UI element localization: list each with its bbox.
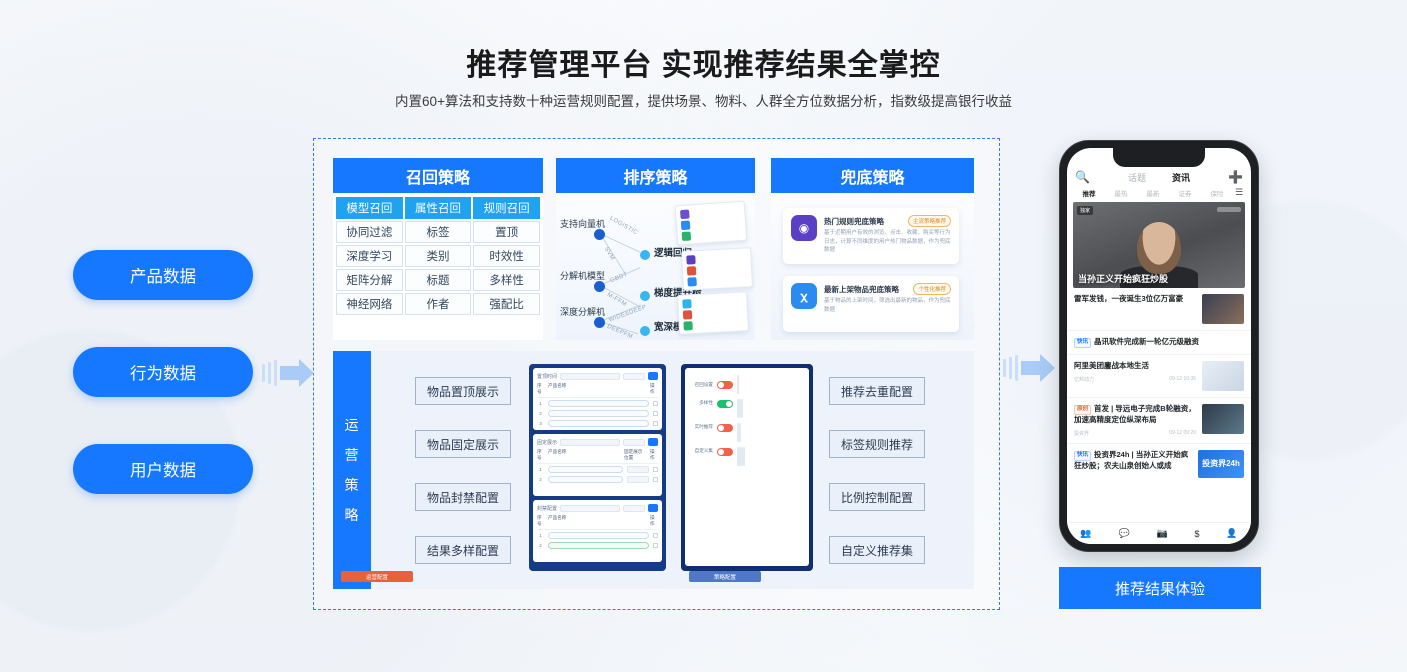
infographic-canvas: 推荐管理平台 实现推荐结果全掌控 内置60+算法和支持数十种运营规则配置，提供场…	[0, 0, 1407, 672]
column-header: 产品名称	[548, 383, 646, 395]
edge-label: DEEPFM	[606, 324, 633, 341]
ops-button-dedup[interactable]: 推荐去重配置	[829, 377, 925, 405]
news-meta: 亿邦动力 09-12 10:35	[1074, 376, 1196, 383]
column-header: 序号	[537, 449, 544, 461]
filter-label: 封禁配置	[537, 505, 557, 512]
edge-label: LOGISTIC	[609, 216, 639, 237]
filter-row[interactable]: 置顶时间	[537, 372, 658, 380]
graph-node-dot	[594, 229, 605, 240]
column-header: 操作	[650, 383, 658, 395]
product-select[interactable]	[623, 373, 645, 380]
list-item[interactable]: 雷军发钱，一夜诞生3位亿万富豪	[1067, 288, 1251, 331]
pill-label: 产品数据	[130, 263, 196, 287]
recall-cell[interactable]: 标题	[405, 269, 472, 291]
fallback-card-title: 热门规则兜底策略	[824, 216, 884, 227]
card-icon	[681, 220, 691, 230]
list-item[interactable]: 快讯晶讯软件完成新一轮亿元级融资	[1067, 331, 1251, 355]
recall-cell[interactable]: 矩阵分解	[336, 269, 403, 291]
news-headline-text: 投资界24h | 当孙正义开始疯狂炒股；农夫山泉创始人或成	[1074, 450, 1188, 470]
table-header: 序号 产品名称 操作	[537, 383, 658, 398]
row-number: 2	[537, 411, 544, 416]
arrow-head-icon	[1021, 361, 1041, 375]
row-checkbox[interactable]	[653, 411, 658, 416]
column-header: 序号	[537, 383, 544, 395]
arrow-trail-line	[1015, 355, 1018, 381]
pill-label: 行为数据	[130, 360, 196, 384]
table-row[interactable]: 2	[537, 542, 658, 549]
result-preview-card	[681, 247, 753, 291]
table-panel: 置顶时间 序号 产品名称 操作 1 2 3	[533, 368, 662, 430]
date-range-input[interactable]	[560, 505, 620, 512]
toggle-switch[interactable]	[717, 424, 733, 432]
source-tag: 快讯	[1074, 338, 1091, 348]
panel-fallback-title: 兜底策略	[771, 158, 974, 193]
recall-cell[interactable]: 强配比	[473, 293, 540, 315]
panel-ranking-strategy: 排序策略 支持向量机 分解机模型 深度分解机 逻辑回归 梯度提升树 宽深模型	[556, 158, 755, 340]
news-headline: 快讯投资界24h | 当孙正义开始疯狂炒股；农夫山泉创始人或成	[1074, 450, 1192, 472]
filter-row[interactable]: 封禁配置	[537, 504, 658, 512]
row-number: 2	[537, 543, 544, 548]
tab-newest[interactable]: 最新	[1137, 188, 1169, 198]
rail-char: 策	[345, 475, 360, 495]
news-time: 09-12 10:35	[1169, 376, 1196, 383]
filter-label: 固定展示	[537, 439, 557, 446]
toggle-label: 实时推荐	[691, 424, 713, 430]
input-pill-product-data[interactable]: 产品数据	[73, 250, 253, 300]
recall-cell[interactable]: 深度学习	[336, 245, 403, 267]
fallback-card-desc: 基于近期用户有效的浏览、点击、收藏、购买等行为日志，计算不同维度的用户热门物品数…	[824, 229, 951, 255]
operation-strategy-rail: 运 营 策 略	[333, 351, 371, 589]
recall-col-header[interactable]: 模型召回	[336, 197, 403, 219]
date-range-input[interactable]	[560, 373, 620, 380]
row-checkbox[interactable]	[653, 477, 658, 482]
recall-cell[interactable]: 时效性	[473, 245, 540, 267]
toggle-label: 召回设置	[691, 382, 713, 388]
column-header: 序号	[537, 515, 544, 527]
edge-label: GBDT	[610, 272, 629, 284]
ad-banner[interactable]: 投资界24h	[1198, 450, 1244, 478]
tab-news[interactable]: 资讯	[1172, 171, 1190, 184]
pill-label: 用户数据	[130, 457, 196, 481]
column-header: 产品名称	[548, 515, 646, 527]
operation-strategy-area: 运 营 策 略 物品置顶展示 物品固定展示 物品封禁配置 结果多样配置 推荐去重…	[333, 351, 974, 589]
table-row[interactable]: 1	[537, 466, 658, 473]
recall-strategy-grid: 模型召回 属性召回 规则召回 协同过滤 标签 置顶 深度学习 类别 时效性 矩阵…	[333, 193, 543, 319]
app-header: 🔍 话题 资讯 ➕	[1067, 167, 1251, 185]
input-pill-behavior-data[interactable]: 行为数据	[73, 347, 253, 397]
arrow-trail-line	[1003, 359, 1006, 377]
recall-cell[interactable]: 类别	[405, 245, 472, 267]
recall-cell[interactable]: 标签	[405, 221, 472, 243]
news-thumbnail	[1202, 404, 1244, 434]
toggle-switch[interactable]	[717, 400, 733, 408]
toggle-row[interactable]: 实时推荐	[691, 424, 803, 442]
news-headline: 原创首发 | 导远电子完成B轮融资，加速高精度定位纵深布局	[1074, 404, 1196, 426]
arrow-trail-line	[1009, 357, 1012, 379]
tab-insurance[interactable]: 保险	[1201, 188, 1233, 198]
table-row[interactable]: 1	[537, 532, 658, 539]
table-panel: 封禁配置 序号 产品名称 操作 1 2	[533, 500, 662, 562]
recall-cell[interactable]: 神经网络	[336, 293, 403, 315]
result-preview-card	[675, 201, 748, 246]
flow-arrow-right	[1003, 355, 1041, 381]
arrow-trail-line	[268, 362, 271, 384]
news-source: 投资界	[1074, 430, 1089, 437]
status-badge: 个性化推荐	[913, 283, 951, 295]
status-badge: 主流策略推荐	[908, 215, 951, 227]
card-icon	[680, 210, 690, 220]
camera-icon[interactable]: 📷	[1156, 528, 1167, 539]
page-title: 推荐管理平台 实现推荐结果全掌控	[0, 40, 1407, 84]
tab-recommend[interactable]: 推荐	[1073, 188, 1105, 198]
filter-label: 置顶时间	[537, 373, 557, 380]
flow-arrow-left	[262, 360, 300, 386]
toggle-row[interactable]: 自定义集	[691, 448, 803, 466]
filter-row[interactable]: 固定展示	[537, 438, 658, 446]
product-select[interactable]	[623, 505, 645, 512]
table-row[interactable]: 2	[537, 476, 658, 483]
news-headline: 阿里美团鏖战本地生活	[1074, 361, 1196, 372]
arrow-trail-line	[274, 360, 277, 386]
ops-button-tag-rule[interactable]: 标签规则推荐	[829, 430, 925, 458]
panel-recall-title: 召回策略	[333, 158, 543, 193]
news-thumbnail	[1202, 361, 1244, 391]
rail-char: 略	[345, 505, 360, 525]
page-subtitle: 内置60+算法和支持数十种运营规则配置，提供场景、物料、人群全方位数据分析，指数…	[0, 90, 1407, 110]
result-preview-card	[677, 291, 749, 335]
recall-cell[interactable]: 置顶	[473, 221, 540, 243]
search-icon[interactable]: 🔍	[1075, 170, 1090, 184]
table-row[interactable]: 1	[537, 400, 658, 407]
recall-col-header[interactable]: 规则召回	[473, 197, 540, 219]
row-number: 1	[537, 401, 544, 406]
hero-title: 当孙正义开始疯狂炒股	[1078, 272, 1168, 285]
search-icon[interactable]	[648, 438, 658, 446]
column-header: 产品名称	[548, 449, 620, 461]
row-checkbox[interactable]	[653, 467, 658, 472]
search-icon[interactable]	[648, 504, 658, 512]
source-tag: 原创	[1074, 405, 1091, 415]
panel-fallback-strategy: 兜底策略 ◉ 热门规则兜底策略 主流策略推荐 基于近期用户有效的浏览、点击、收藏…	[771, 158, 974, 340]
fallback-card-new-arrivals[interactable]: 𝛘 最新上架物品兜底策略 个性化推荐 基于物品的上架时间，筛选出最新的物品，作为…	[783, 276, 959, 332]
news-thumbnail	[1202, 294, 1244, 324]
list-item[interactable]: 阿里美团鏖战本地生活 亿邦动力 09-12 10:35	[1067, 355, 1251, 398]
row-number: 1	[537, 467, 544, 472]
toggle-switch[interactable]	[717, 448, 733, 456]
plus-icon[interactable]: ➕	[1228, 170, 1243, 184]
compass-icon: ◉	[791, 215, 817, 241]
rail-char: 运	[345, 415, 360, 435]
stepper[interactable]	[627, 476, 649, 483]
graph-node-dot	[640, 250, 650, 260]
settings-panel: 召回设置 多样性 实时推荐 自定义集	[685, 368, 809, 566]
arrow-trail-line	[262, 364, 265, 382]
row-number: 2	[537, 477, 544, 482]
news-headline-text: 首发 | 导远电子完成B轮融资，加速高精度定位纵深布局	[1074, 404, 1196, 424]
panel-recall-strategy: 召回策略 模型召回 属性召回 规则召回 协同过滤 标签 置顶 深度学习 类别 时…	[333, 158, 543, 340]
toggle-switch[interactable]	[717, 381, 733, 389]
toggle-label: 自定义集	[691, 448, 713, 454]
ranking-diagram: 支持向量机 分解机模型 深度分解机 逻辑回归 梯度提升树 宽深模型 LOGIST…	[556, 193, 755, 340]
ops-button-result-diversity[interactable]: 结果多样配置	[415, 536, 511, 564]
chat-icon[interactable]: 💬	[1118, 528, 1129, 539]
recall-cell[interactable]: 协同过滤	[336, 221, 403, 243]
row-checkbox[interactable]	[653, 543, 658, 548]
input-pill-user-data[interactable]: 用户数据	[73, 444, 253, 494]
ops-button-ratio-control[interactable]: 比例控制配置	[829, 483, 925, 511]
list-item[interactable]: 原创首发 | 导远电子完成B轮融资，加速高精度定位纵深布局 投资界 09-12 …	[1067, 398, 1251, 444]
admin-screenshot-tables: 置顶时间 序号 产品名称 操作 1 2 3 固定展示	[529, 364, 666, 571]
row-checkbox[interactable]	[653, 401, 658, 406]
graph-node-dot	[594, 281, 605, 292]
ops-button-custom-set[interactable]: 自定义推荐集	[829, 536, 925, 564]
toggle-label: 多样性	[691, 400, 713, 406]
rail-char: 营	[345, 445, 360, 465]
graph-node-dot	[640, 326, 650, 336]
column-header: 操作	[650, 449, 658, 461]
fallback-card-desc: 基于物品的上架时间，筛选出最新的物品，作为兜底数据	[824, 297, 951, 314]
news-headline: 雷军发钱，一夜诞生3位亿万富豪	[1074, 294, 1196, 305]
column-header: 固定展示位置	[624, 449, 646, 461]
people-icon[interactable]: 👥	[1080, 528, 1091, 539]
experience-button[interactable]: 推荐结果体验	[1059, 567, 1261, 609]
hero-figure-face	[1137, 222, 1181, 274]
card-icon	[682, 231, 692, 241]
admin-screenshot-toggles: 召回设置 多样性 实时推荐 自定义集	[681, 364, 813, 571]
news-meta: 投资界 09-12 09:20	[1074, 430, 1196, 437]
news-headline-text: 晶讯软件完成新一轮亿元级融资	[1094, 337, 1199, 346]
new-arrival-icon: 𝛘	[791, 283, 817, 309]
stepper[interactable]	[627, 466, 649, 473]
news-source: 亿邦动力	[1074, 376, 1094, 383]
card-icon	[686, 255, 695, 264]
list-item[interactable]: 快讯投资界24h | 当孙正义开始疯狂炒股；农夫山泉创始人或成 投资界24h	[1067, 444, 1251, 484]
column-header: 操作	[650, 515, 658, 527]
table-header: 序号 产品名称 操作	[537, 515, 658, 530]
row-checkbox[interactable]	[653, 421, 658, 426]
card-icon	[687, 266, 696, 275]
category-tabs: 推荐 最热 最新 证券 保险 ☰	[1067, 185, 1251, 202]
table-panel: 固定展示 序号 产品名称 固定展示位置 操作 1 2	[533, 434, 662, 496]
card-icon	[687, 277, 696, 286]
card-icon	[683, 310, 692, 319]
tab-securities[interactable]: 证券	[1169, 188, 1201, 198]
recall-cell[interactable]: 作者	[405, 293, 472, 315]
table-row[interactable]: 2	[537, 410, 658, 417]
graph-node-dot	[594, 317, 605, 328]
graph-node-dot	[640, 291, 650, 301]
card-icon	[682, 299, 691, 308]
dollar-icon[interactable]: $	[1195, 529, 1200, 539]
ops-button-item-fixed[interactable]: 物品固定展示	[415, 430, 511, 458]
fallback-card-title: 最新上架物品兜底策略	[824, 284, 899, 295]
recall-cell[interactable]: 多样性	[473, 269, 540, 291]
arrow-head-icon	[280, 366, 300, 380]
card-icon	[683, 321, 692, 330]
product-select[interactable]	[623, 439, 645, 446]
user-icon[interactable]: 👤	[1226, 528, 1237, 539]
hero-badge: 独家	[1077, 206, 1093, 215]
tab-topics[interactable]: 话题	[1128, 171, 1146, 184]
screenshot-tag-operations: 运营配置	[341, 571, 413, 582]
recall-col-header[interactable]: 属性召回	[405, 197, 472, 219]
source-tag: 快讯	[1074, 451, 1091, 461]
phone-screen: 🔍 话题 资讯 ➕ 推荐 最热 最新 证券 保险 ☰ 独家 当孙	[1067, 148, 1251, 544]
phone-notch	[1113, 148, 1205, 167]
phone-tab-bar: 👥 💬 📷 $ 👤	[1067, 522, 1251, 544]
row-number: 1	[537, 533, 544, 538]
hero-article[interactable]: 独家 当孙正义开始疯狂炒股	[1073, 202, 1245, 288]
row-number: 3	[537, 421, 544, 426]
table-header: 序号 产品名称 固定展示位置 操作	[537, 449, 658, 464]
toggle-row[interactable]: 召回设置	[691, 376, 803, 394]
screenshot-tag-strategy: 策略配置	[689, 571, 761, 582]
toggle-row[interactable]: 多样性	[691, 400, 803, 418]
news-time: 09-12 09:20	[1169, 430, 1196, 437]
hero-meta-bar	[1217, 207, 1241, 212]
ops-button-item-ban[interactable]: 物品封禁配置	[415, 483, 511, 511]
tab-hottest[interactable]: 最热	[1105, 188, 1137, 198]
row-checkbox[interactable]	[653, 533, 658, 538]
phone-mockup: 🔍 话题 资讯 ➕ 推荐 最热 最新 证券 保险 ☰ 独家 当孙	[1059, 140, 1259, 552]
panel-ranking-title: 排序策略	[556, 158, 755, 193]
date-range-input[interactable]	[560, 439, 620, 446]
news-headline: 快讯晶讯软件完成新一轮亿元级融资	[1074, 337, 1244, 348]
menu-icon[interactable]: ☰	[1233, 187, 1245, 198]
ops-button-item-pin[interactable]: 物品置顶展示	[415, 377, 511, 405]
fallback-card-hot-rules[interactable]: ◉ 热门规则兜底策略 主流策略推荐 基于近期用户有效的浏览、点击、收藏、购买等行…	[783, 208, 959, 264]
search-icon[interactable]	[648, 372, 658, 380]
table-row[interactable]: 3	[537, 420, 658, 427]
